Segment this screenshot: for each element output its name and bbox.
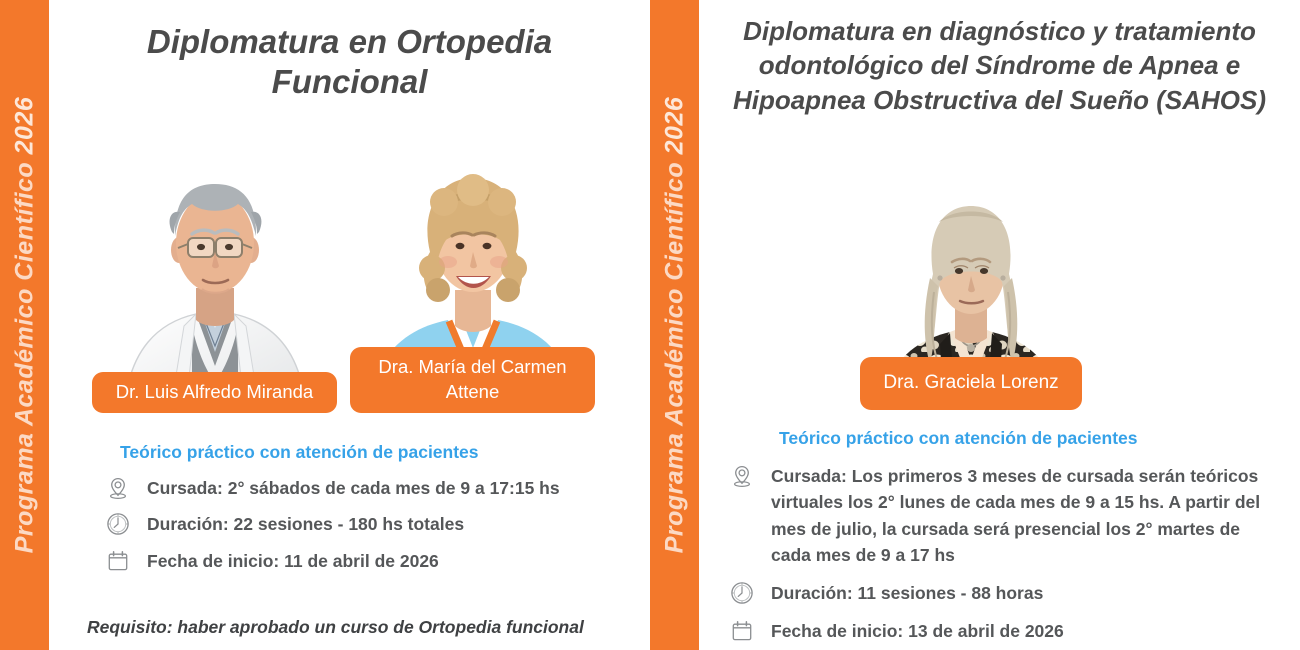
ribbon-right: Programa Académico Científico 2026 bbox=[650, 0, 699, 650]
card-footnote-ortopedia: Requisito: haber aprobado un curso de Or… bbox=[87, 617, 584, 638]
faculty-photo-row-ortopedia: Dr. Luis Alfredo Miranda bbox=[92, 140, 595, 413]
faculty-card-lorenz: Dra. Graciela Lorenz bbox=[860, 182, 1082, 410]
clock-icon bbox=[105, 511, 131, 537]
location-pin-icon bbox=[105, 475, 131, 501]
ribbon-right-year: 2026 bbox=[660, 97, 688, 155]
ribbon-left-year: 2026 bbox=[10, 97, 38, 155]
card-subtitle-sahos: Teórico práctico con atención de pacient… bbox=[779, 428, 1138, 449]
detail-row-fecha-inicio: Fecha de inicio: 13 de abril de 2026 bbox=[729, 617, 1299, 644]
detail-row-duracion: Duración: 11 sesiones - 88 horas bbox=[729, 579, 1299, 606]
promo-banner: Programa Académico Científico 2026 Diplo… bbox=[0, 0, 1300, 650]
faculty-name-badge: Dr. Luis Alfredo Miranda bbox=[92, 372, 337, 413]
detail-text: Fecha de inicio: 11 de abril de 2026 bbox=[147, 547, 439, 574]
ribbon-left-prefix: Programa Académico Científico bbox=[10, 154, 38, 553]
faculty-photo-row-sahos: Dra. Graciela Lorenz bbox=[860, 182, 1082, 410]
calendar-icon bbox=[105, 548, 131, 574]
calendar-icon bbox=[729, 618, 755, 644]
detail-text: Fecha de inicio: 13 de abril de 2026 bbox=[771, 617, 1064, 644]
detail-list-ortopedia: Cursada: 2° sábados de cada mes de 9 a 1… bbox=[105, 474, 650, 583]
location-pin-icon bbox=[729, 463, 755, 489]
detail-row-cursada: Cursada: Los primeros 3 meses de cursada… bbox=[729, 462, 1299, 568]
detail-text: Duración: 11 sesiones - 88 horas bbox=[771, 579, 1043, 606]
clock-icon bbox=[729, 580, 755, 606]
page-title-ortopedia: Diplomatura en Ortopedia Funcional bbox=[69, 22, 630, 101]
faculty-name-badge: Dra. María del Carmen Attene bbox=[350, 347, 595, 413]
ribbon-left: Programa Académico Científico 2026 bbox=[0, 0, 49, 650]
detail-text: Duración: 22 sesiones - 180 hs totales bbox=[147, 510, 464, 537]
faculty-card-attene: Dra. María del Carmen Attene bbox=[350, 140, 595, 413]
faculty-name-badge: Dra. Graciela Lorenz bbox=[860, 357, 1082, 410]
ribbon-right-label: Programa Académico Científico 2026 bbox=[660, 97, 689, 554]
ribbon-left-label: Programa Académico Científico 2026 bbox=[10, 97, 39, 554]
detail-row-duracion: Duración: 22 sesiones - 180 hs totales bbox=[105, 510, 650, 537]
ribbon-right-prefix: Programa Académico Científico bbox=[660, 154, 688, 553]
detail-list-sahos: Cursada: Los primeros 3 meses de cursada… bbox=[729, 462, 1299, 650]
detail-row-cursada: Cursada: 2° sábados de cada mes de 9 a 1… bbox=[105, 474, 650, 501]
card-ortopedia-funcional: Diplomatura en Ortopedia Funcional bbox=[49, 0, 650, 650]
detail-text: Cursada: 2° sábados de cada mes de 9 a 1… bbox=[147, 474, 560, 501]
page-title-sahos: Diplomatura en diagnóstico y tratamiento… bbox=[725, 14, 1274, 117]
card-sahos: Diplomatura en diagnóstico y tratamiento… bbox=[699, 0, 1300, 650]
detail-text: Cursada: Los primeros 3 meses de cursada… bbox=[771, 462, 1279, 568]
faculty-card-miranda: Dr. Luis Alfredo Miranda bbox=[92, 140, 337, 413]
card-subtitle-ortopedia: Teórico práctico con atención de pacient… bbox=[120, 442, 479, 463]
detail-row-fecha-inicio: Fecha de inicio: 11 de abril de 2026 bbox=[105, 547, 650, 574]
